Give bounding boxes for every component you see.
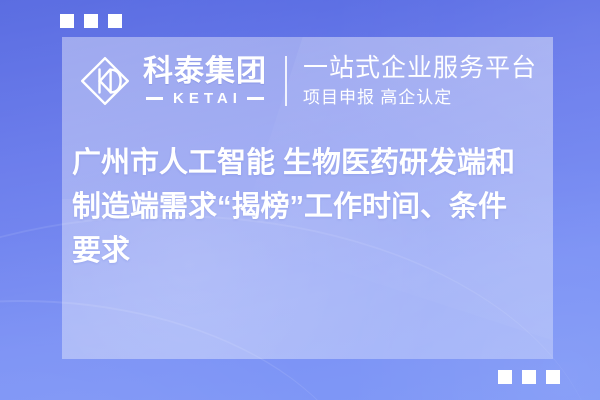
page-title: 广州市人工智能 生物医药研发端和制造端需求“揭榜”工作时间、条件要求 [68, 141, 539, 273]
brand-header: 科泰集团 KETAI 一站式企业服务平台 项目申报 高企认定 [62, 37, 553, 125]
ketai-logo-icon [78, 54, 132, 108]
square-dot-icon [84, 14, 98, 28]
brand-name-en-row: KETAI [146, 91, 264, 106]
tagline-main: 一站式企业服务平台 [303, 54, 537, 83]
tagline-block: 一站式企业服务平台 项目申报 高企认定 [303, 54, 537, 109]
square-dot-icon [522, 370, 536, 384]
brand-name-en: KETAI [168, 91, 242, 106]
square-dot-icon [60, 14, 74, 28]
content-card: 科泰集团 KETAI 一站式企业服务平台 项目申报 高企认定 广州市人工智能 生… [62, 37, 553, 359]
decor-dots-top-left [60, 14, 122, 28]
square-dot-icon [108, 14, 122, 28]
decor-dots-bottom-right [498, 370, 560, 384]
square-dot-icon [546, 370, 560, 384]
poster-canvas: 科泰集团 KETAI 一站式企业服务平台 项目申报 高企认定 广州市人工智能 生… [0, 0, 600, 400]
brand-name-cn: 科泰集团 [143, 56, 267, 88]
wordmark-rule-left-icon [146, 97, 163, 100]
brand-wordmark: 科泰集团 KETAI [143, 56, 267, 106]
square-dot-icon [498, 370, 512, 384]
tagline-sub: 项目申报 高企认定 [303, 87, 537, 108]
brand-divider [285, 56, 287, 106]
wordmark-rule-right-icon [247, 97, 264, 100]
